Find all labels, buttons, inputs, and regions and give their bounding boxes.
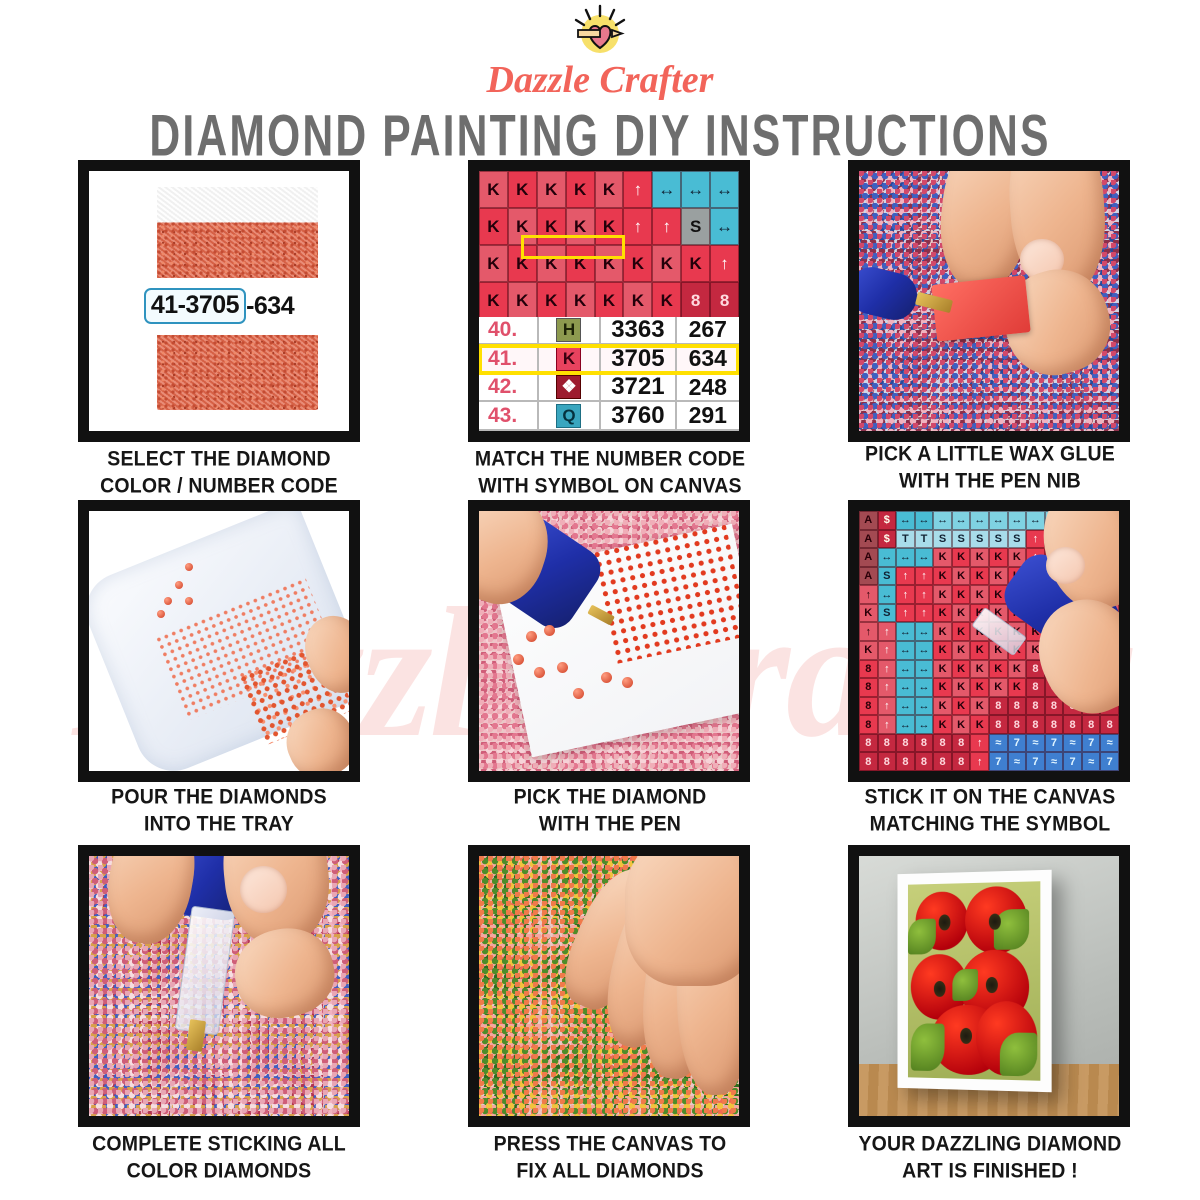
chart-cell: K [1008, 567, 1027, 586]
legend-no: 42. [479, 374, 539, 401]
chart-cell: ↑ [1063, 567, 1082, 586]
chart-cell: 8 [1082, 715, 1101, 734]
chart-cell: 8 [859, 697, 878, 716]
step-8-caption: PRESS THE CANVAS TO FIX ALL DIAMONDS [440, 1131, 780, 1185]
chart-cell: K [933, 660, 952, 679]
chart-cell: K [952, 548, 971, 567]
chart-cell: K [989, 678, 1008, 697]
chart-cell: ↔ [915, 715, 934, 734]
color-code-suffix: -634 [246, 292, 294, 321]
chart-cell: K [681, 245, 710, 282]
chart-cell: ↑ [878, 678, 897, 697]
step-2-caption-line1: MATCH THE NUMBER CODE [440, 446, 780, 473]
chart-cell: ↑ [896, 567, 915, 586]
chart-cell: ↔ [896, 511, 915, 530]
chart-cell: ↑ [1045, 548, 1064, 567]
chart-cell: 8 [1100, 678, 1119, 697]
chart-cell: K [1100, 604, 1119, 623]
chart-cell: K [970, 641, 989, 660]
chart-cell: 8 [1100, 697, 1119, 716]
legend-symbol: H [539, 317, 601, 344]
step-5-image [468, 500, 750, 782]
chart-cell: ↑ [970, 734, 989, 753]
step-3-image [848, 160, 1130, 442]
chart-cell: K [970, 567, 989, 586]
chart-cell: ↑ [878, 641, 897, 660]
chart-cell: 8 [1008, 697, 1027, 716]
legend-no: 43. [479, 402, 539, 429]
fingernail [240, 866, 287, 913]
step-1-caption-line1: SELECT THE DIAMOND [49, 446, 389, 473]
chart-cell: ↔ [878, 548, 897, 567]
chart-cell: ↑ [859, 585, 878, 604]
chart-cell: K [1063, 604, 1082, 623]
chart-cell: $ [878, 511, 897, 530]
chart-cell: ↑ [1045, 585, 1064, 604]
chart-cell: K [479, 208, 508, 245]
step-6-caption-line1: STICK IT ON THE CANVAS [820, 784, 1160, 811]
chart-cell: ↔ [896, 678, 915, 697]
chart-cell: K [566, 245, 595, 282]
chart-cell: K [970, 585, 989, 604]
chart-cell: ↑ [1026, 548, 1045, 567]
legend-dmc: 3760 [601, 402, 676, 429]
chart-cell: ↔ [1063, 511, 1082, 530]
table-row: 42. ❖ 3721 248 [479, 374, 739, 403]
chart-cell: 7 [1063, 752, 1082, 771]
chart-cell: K [479, 245, 508, 282]
chart-cell: K [566, 208, 595, 245]
chart-cell: K [952, 622, 971, 641]
chart-cell: ↔ [896, 715, 915, 734]
chart-cell: K [508, 208, 537, 245]
chart-cell: K [970, 604, 989, 623]
chart-cell: 8 [859, 734, 878, 753]
step-7-image [78, 845, 360, 1127]
chart-cell: ≈ [1045, 752, 1064, 771]
chart-cell: ↑ [1026, 585, 1045, 604]
chart-cell: ↑ [1063, 530, 1082, 549]
step-6-caption: STICK IT ON THE CANVAS MATCHING THE SYMB… [820, 784, 1160, 838]
step-3-caption-line2: WITH THE PEN NIB [820, 468, 1160, 495]
chart-cell: ↔ [915, 678, 934, 697]
step-9-caption-line2: ART IS FINISHED ! [820, 1158, 1160, 1185]
step-5-caption-line1: PICK THE DIAMOND [440, 784, 780, 811]
chart-cell: K [1082, 604, 1101, 623]
chart-cell: A [859, 511, 878, 530]
chart-cell: K [933, 678, 952, 697]
chart-cell: 8 [1045, 660, 1064, 679]
chart-cell: K [479, 171, 508, 208]
chart-cell: ↑ [710, 245, 739, 282]
chart-cell: 8 [989, 715, 1008, 734]
chart-cell: K [595, 208, 624, 245]
chart-cell: ↑ [1063, 585, 1082, 604]
chart-cell: 8 [878, 752, 897, 771]
step-4-caption: POUR THE DIAMONDS INTO THE TRAY [49, 784, 389, 838]
chart-cell: K [1008, 641, 1027, 660]
chart-cell: K [989, 641, 1008, 660]
chart-cell: K [508, 282, 537, 319]
chart-cell: 8 [915, 734, 934, 753]
loose-diamond [157, 610, 165, 618]
step-7-caption-line2: COLOR DIAMONDS [49, 1158, 389, 1185]
legend-qty: 267 [677, 317, 739, 344]
chart-cell: K [508, 245, 537, 282]
chart-cell: 8 [1026, 715, 1045, 734]
step-4-image [78, 500, 360, 782]
legend-symbol: Q [539, 402, 601, 429]
legend-qty: 248 [677, 374, 739, 401]
chart-cell: 8 [933, 752, 952, 771]
chart-cell: K [989, 567, 1008, 586]
chart-cell: 7 [1008, 734, 1027, 753]
chart-cell: 8 [1045, 678, 1064, 697]
step-2-caption-line2: WITH SYMBOL ON CANVAS [440, 473, 780, 500]
chart-cell: 8 [1026, 660, 1045, 679]
chart-cell: K [952, 678, 971, 697]
chart-cell: 7 [1100, 752, 1119, 771]
table-row: 41. K 3705 634 [479, 345, 739, 374]
bag-label: 41-3705-634 [112, 278, 325, 335]
chart-cell: K [652, 282, 681, 319]
chart-cell: S [878, 567, 897, 586]
chart-cell: K [989, 622, 1008, 641]
legend-symbol: ❖ [539, 374, 601, 401]
chart-cell: K [1008, 548, 1027, 567]
chart-cell: 8 [1063, 678, 1082, 697]
chart-cell: 8 [1063, 660, 1082, 679]
chart-cell: $ [878, 530, 897, 549]
chart-cell: 7 [1045, 734, 1064, 753]
chart-cell: 8 [952, 752, 971, 771]
chart-cell: K [989, 548, 1008, 567]
chart-cell: K [537, 282, 566, 319]
chart-cell: K [933, 585, 952, 604]
chart-cell: K [1082, 641, 1101, 660]
step-7-caption-line1: COMPLETE STICKING ALL [49, 1131, 389, 1158]
brand-wordmark: Dazzle Crafter [0, 58, 1200, 102]
step-1-caption: SELECT THE DIAMOND COLOR / NUMBER CODE [49, 446, 389, 500]
color-code-boxed: 41-3705 [144, 288, 246, 324]
chart-cell: K [537, 208, 566, 245]
chart-cell: ↔ [915, 641, 934, 660]
chart-cell: 8 [1082, 678, 1101, 697]
chart-cell: K [537, 171, 566, 208]
chart-cell: ↔ [1008, 511, 1027, 530]
chart-cell: K [1026, 622, 1045, 641]
chart-cell: 8 [1063, 697, 1082, 716]
legend-qty: 634 [677, 345, 739, 372]
chart-cell: K [652, 245, 681, 282]
chart-cell: 8 [1045, 697, 1064, 716]
green-leaf [911, 1023, 945, 1070]
chart-cell: K [595, 171, 624, 208]
chart-cell: ↑ [878, 660, 897, 679]
chart-cell: 7 [1082, 734, 1101, 753]
chart-cell: ↑ [1100, 548, 1119, 567]
step-3-caption-line1: PICK A LITTLE WAX GLUE [820, 441, 1160, 468]
brand-logo: Dazzle Crafter [0, 4, 1200, 102]
chart-cell: K [933, 567, 952, 586]
chart-cell: K [952, 567, 971, 586]
chart-cell: K [1063, 641, 1082, 660]
step-9-image [848, 845, 1130, 1127]
chart-cell: K [970, 660, 989, 679]
chart-cell: K [595, 282, 624, 319]
chart-cell: ↑ [859, 622, 878, 641]
chart-cell: K [952, 697, 971, 716]
chart-cell: K [859, 641, 878, 660]
legend-dmc: 3705 [601, 345, 676, 372]
chart-cell: S [1008, 530, 1027, 549]
step-8-image [468, 845, 750, 1127]
chart-cell: S [681, 208, 710, 245]
chart-cell: K [1008, 604, 1027, 623]
chart-cell: K [623, 282, 652, 319]
chart-cell: K [1008, 622, 1027, 641]
flower-center [934, 981, 946, 997]
hand-palm [625, 845, 750, 986]
chart-cell: ↑ [896, 585, 915, 604]
chart-cell: ≈ [1100, 734, 1119, 753]
step-2-caption: MATCH THE NUMBER CODE WITH SYMBOL ON CAN… [440, 446, 780, 500]
chart-cell: 8 [859, 752, 878, 771]
chart-cell: ≈ [1008, 752, 1027, 771]
dmc-legend-table: 40. H 3363 267 41. K 3705 634 42. ❖ 3721… [479, 317, 739, 431]
chart-cell: A [859, 548, 878, 567]
chart-cell: ↔ [1082, 511, 1101, 530]
chart-cell: 8 [859, 715, 878, 734]
step-7-caption: COMPLETE STICKING ALL COLOR DIAMONDS [49, 1131, 389, 1185]
chart-cell: ↑ [896, 604, 915, 623]
step-5-caption: PICK THE DIAMOND WITH THE PEN [440, 784, 780, 838]
chart-cell: ↑ [1082, 567, 1101, 586]
chart-cell: 8 [952, 734, 971, 753]
chart-cell: A [859, 567, 878, 586]
chart-cell: 8 [915, 752, 934, 771]
step-5-caption-line2: WITH THE PEN [440, 811, 780, 838]
chart-cell: K [1008, 585, 1027, 604]
step-4-caption-line2: INTO THE TRAY [49, 811, 389, 838]
loose-diamond [175, 581, 183, 589]
chart-cell: ≈ [1026, 734, 1045, 753]
chart-cell: ↔ [896, 622, 915, 641]
chart-cell: ↑ [970, 752, 989, 771]
chart-cell: ↑ [1082, 585, 1101, 604]
step-4-caption-line1: POUR THE DIAMONDS [49, 784, 389, 811]
chart-cell: ↑ [623, 208, 652, 245]
chart-cell: T [915, 530, 934, 549]
chart-cell: 8 [896, 752, 915, 771]
chart-cell: K [479, 282, 508, 319]
chart-cell: K [933, 604, 952, 623]
chart-cell: K [952, 585, 971, 604]
step-1-image: 41-3705-634 [78, 160, 360, 442]
legend-qty: 291 [677, 402, 739, 429]
chart-cell: 8 [1082, 660, 1101, 679]
chart-cell: K [859, 604, 878, 623]
chart-cell: 8 [859, 678, 878, 697]
chart-cell: K [1008, 678, 1027, 697]
chart-cell: ↑ [878, 715, 897, 734]
legend-no: 40. [479, 317, 539, 344]
table-row: 40. H 3363 267 [479, 317, 739, 346]
step-9-caption: YOUR DAZZLING DIAMOND ART IS FINISHED ! [820, 1131, 1160, 1185]
step-6-image: A$↔↔↔↔↔↔↔↔↔↔↔↔A$TTSSSSS↑↑↑↑↑A↔↔↔KKKKK↑↑↑… [848, 500, 1130, 782]
step-9-caption-line1: YOUR DAZZLING DIAMOND [820, 1131, 1160, 1158]
chart-cell: 8 [1045, 715, 1064, 734]
chart-cell: ↑ [878, 697, 897, 716]
chart-cell: S [970, 530, 989, 549]
step-8-caption-line1: PRESS THE CANVAS TO [440, 1131, 780, 1158]
chart-cell: K [970, 697, 989, 716]
chart-cell: 8 [896, 734, 915, 753]
chart-cell: ≈ [989, 734, 1008, 753]
chart-cell: K [933, 641, 952, 660]
step-3-caption: PICK A LITTLE WAX GLUE WITH THE PEN NIB [820, 441, 1160, 495]
chart-cell: ↔ [933, 511, 952, 530]
chart-cell: ↑ [1045, 567, 1064, 586]
loose-diamond [557, 662, 568, 673]
chart-cell: K [1045, 622, 1064, 641]
chart-cell: K [952, 715, 971, 734]
loose-diamond [573, 688, 584, 699]
chart-cell: K [1026, 604, 1045, 623]
chart-cell: 8 [710, 282, 739, 319]
legend-no: 41. [479, 345, 539, 372]
chart-cell: ↔ [915, 622, 934, 641]
chart-cell: ↑ [1100, 585, 1119, 604]
legend-dmc: 3721 [601, 374, 676, 401]
chart-cell: K [1045, 604, 1064, 623]
chart-cell: ↔ [896, 548, 915, 567]
chart-cell: ↑ [1026, 567, 1045, 586]
chart-cell: K [970, 622, 989, 641]
chart-cell: ↔ [915, 660, 934, 679]
chart-cell: ↔ [1100, 511, 1119, 530]
chart-cell: ↑ [915, 567, 934, 586]
chart-cell: S [933, 530, 952, 549]
green-leaf [1000, 1032, 1038, 1076]
chart-cell: ↔ [710, 171, 739, 208]
chart-cell: ↔ [681, 171, 710, 208]
chart-cell: S [952, 530, 971, 549]
chart-cell: K [1026, 641, 1045, 660]
chart-cell: ↑ [1100, 530, 1119, 549]
chart-cell: K [1063, 622, 1082, 641]
chart-cell: K [1082, 622, 1101, 641]
chart-cell: A [859, 530, 878, 549]
chart-cell: K [595, 245, 624, 282]
chart-cell: K [970, 715, 989, 734]
legend-dmc: 3363 [601, 317, 676, 344]
chart-cell: ↑ [1100, 567, 1119, 586]
loose-diamond [513, 654, 524, 665]
chart-cell: K [989, 660, 1008, 679]
poppy-painting [908, 881, 1040, 1081]
chart-cell: S [878, 604, 897, 623]
chart-cell: ↑ [915, 585, 934, 604]
chart-cell: ↔ [915, 548, 934, 567]
table-row: 43. Q 3760 291 [479, 402, 739, 431]
chart-cell: ↑ [1045, 530, 1064, 549]
chart-cell: ↑ [878, 622, 897, 641]
chart-cell: 8 [989, 697, 1008, 716]
step-6-caption-line2: MATCHING THE SYMBOL [820, 811, 1160, 838]
chart-cell: 8 [1026, 697, 1045, 716]
chart-cell: K [933, 622, 952, 641]
chart-cell: K [1100, 622, 1119, 641]
chart-cell: K [566, 171, 595, 208]
chart-cell: ↔ [1026, 511, 1045, 530]
chart-cell: K [933, 697, 952, 716]
chart-cell: K [1008, 660, 1027, 679]
chart-cell: ↔ [710, 208, 739, 245]
framed-artwork [898, 869, 1052, 1092]
chart-cell: K [933, 548, 952, 567]
chart-cell: K [1100, 641, 1119, 660]
chart-cell: K [989, 604, 1008, 623]
chart-cell: ↑ [1026, 530, 1045, 549]
chart-cell: 8 [878, 734, 897, 753]
heart-with-pencil-icon [568, 4, 632, 60]
chart-cell: S [989, 530, 1008, 549]
chart-cell: ↔ [652, 171, 681, 208]
chart-cell: ≈ [1063, 734, 1082, 753]
chart-cell: K [952, 604, 971, 623]
chart-cell: ↑ [652, 208, 681, 245]
chart-cell: 8 [1100, 660, 1119, 679]
chart-cell: T [896, 530, 915, 549]
chart-cell: ↔ [970, 511, 989, 530]
chart-cell: K [1045, 641, 1064, 660]
legend-symbol: K [539, 345, 601, 372]
chart-cell: K [952, 660, 971, 679]
chart-cell: 8 [859, 660, 878, 679]
chart-cell: 8 [1026, 678, 1045, 697]
chart-cell: 8 [1063, 715, 1082, 734]
chart-cell: ↔ [915, 511, 934, 530]
chart-cell: ↑ [915, 604, 934, 623]
chart-cell: ↔ [896, 697, 915, 716]
chart-cell: 8 [1008, 715, 1027, 734]
chart-cell: K [952, 641, 971, 660]
step-1-caption-line2: COLOR / NUMBER CODE [49, 473, 389, 500]
loose-diamond [526, 631, 537, 642]
chart-cell: ↑ [623, 171, 652, 208]
step-8-caption-line2: FIX ALL DIAMONDS [440, 1158, 780, 1185]
canvas-symbol-chart: A$↔↔↔↔↔↔↔↔↔↔↔↔A$TTSSSSS↑↑↑↑↑A↔↔↔KKKKK↑↑↑… [859, 511, 1119, 771]
chart-cell: ↔ [989, 511, 1008, 530]
flower-center [960, 1028, 972, 1044]
chart-cell: ↔ [915, 697, 934, 716]
loose-diamond [534, 667, 545, 678]
chart-cell: ↔ [896, 641, 915, 660]
chart-cell: ↑ [1063, 548, 1082, 567]
chart-cell: K [970, 548, 989, 567]
chart-cell: 7 [1026, 752, 1045, 771]
chart-cell: ↑ [1082, 548, 1101, 567]
chart-cell: 8 [681, 282, 710, 319]
chart-cell: ≈ [1082, 752, 1101, 771]
chart-cell: K [623, 245, 652, 282]
chart-cell: 8 [1100, 715, 1119, 734]
chart-cell: K [989, 585, 1008, 604]
chart-cell: ↔ [952, 511, 971, 530]
chart-cell: 7 [989, 752, 1008, 771]
step-2-image: KKKKK↑↔↔↔KKKKK↑↑S↔KKKKKKKK↑KKKKKKK88↑KKK… [468, 160, 750, 442]
